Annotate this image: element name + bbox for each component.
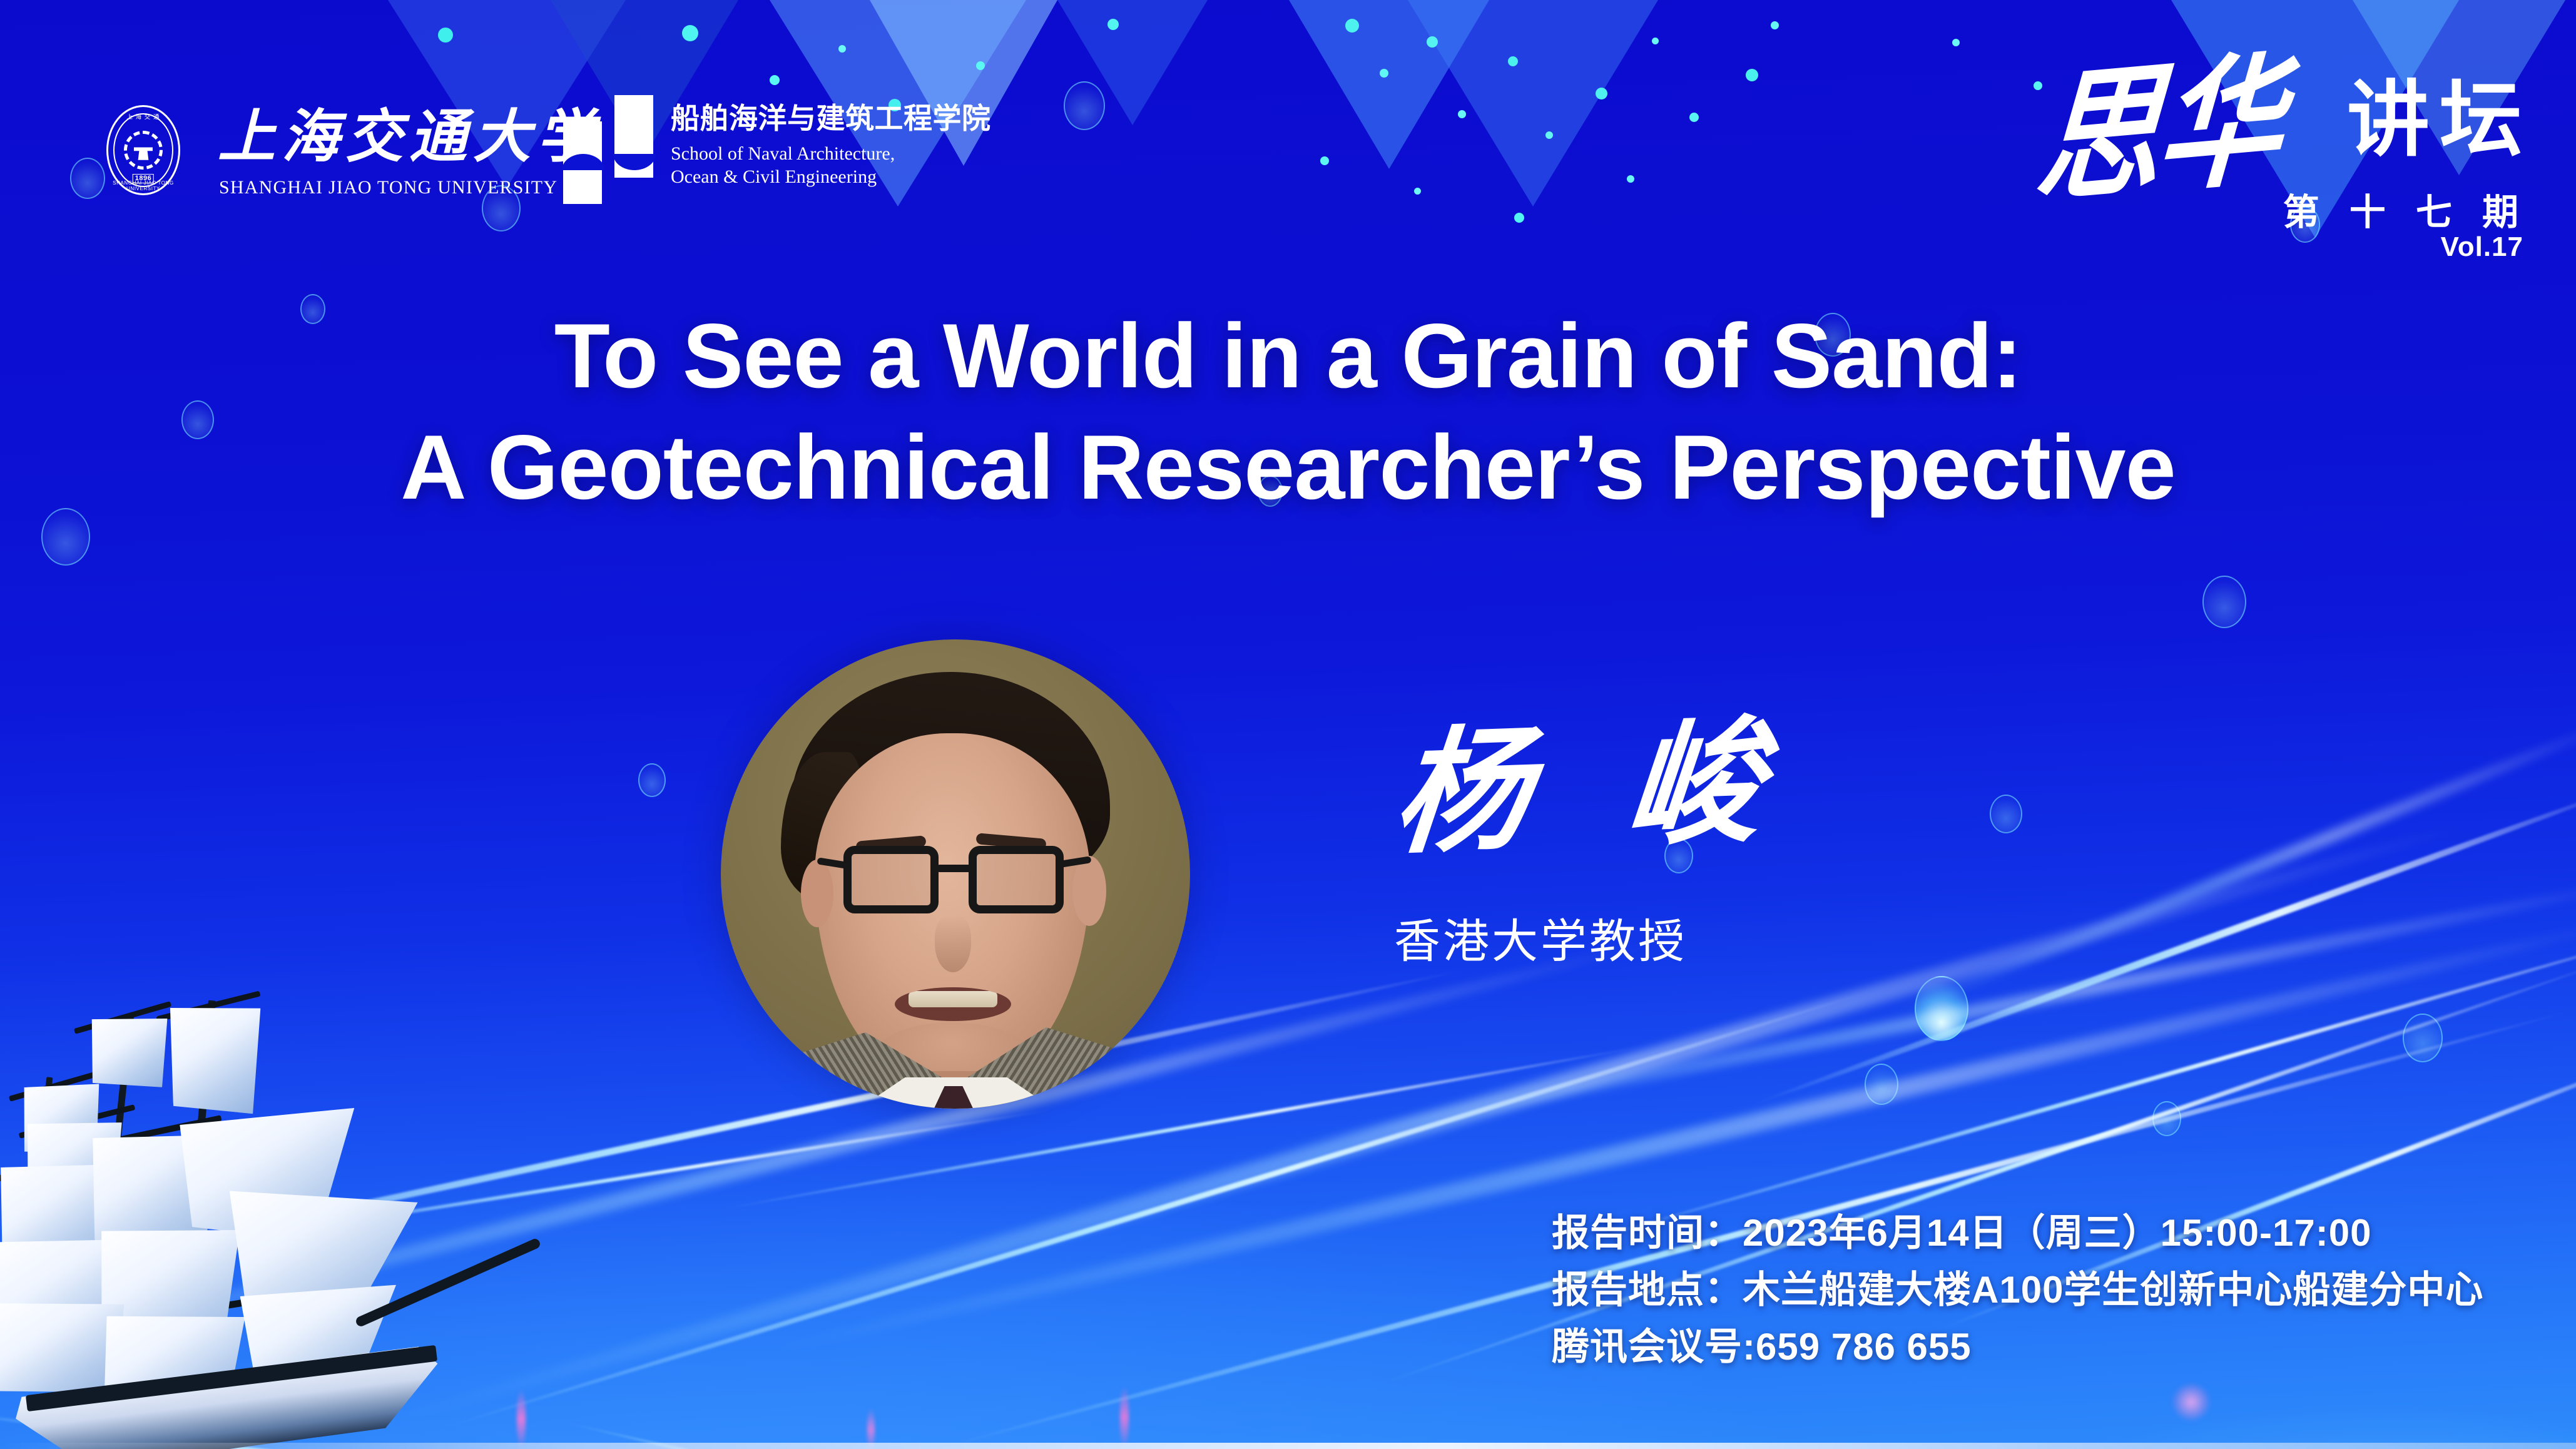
title-line-1: To See a World in a Grain of Sand: (0, 300, 2576, 412)
seal-arc-bottom: SHANGHAI JIAO TONG UNIVERSITY (108, 180, 178, 191)
event-details: 报告时间：2023年6月14日（周三）15:00-17:00 报告地点：木兰船建… (1552, 1204, 2483, 1376)
speaker-name: 杨 峻 (1388, 713, 1793, 861)
forum-volume: Vol.17 (2441, 231, 2523, 263)
eyeglasses-icon (843, 846, 1064, 918)
page-title: To See a World in a Grain of Sand: A Geo… (0, 300, 2576, 523)
forum-name: 讲坛 (2347, 79, 2532, 161)
school-logo-icon (563, 95, 679, 208)
sjtu-seal-icon: 上 海 交 通 1896 SHANGHAI JIAO TONG UNIVERSI… (106, 105, 180, 195)
school-name-en-line2: Ocean & Civil Engineering (671, 166, 877, 187)
school-name-en: School of Naval Architecture,Ocean & Civ… (671, 143, 895, 188)
speaker-affiliation: 香港大学教授 (1394, 904, 1687, 971)
title-line-2: A Geotechnical Researcher’s Perspective (0, 412, 2576, 523)
speaker-portrait (721, 639, 1190, 1109)
event-time: 报告时间：2023年6月14日（周三）15:00-17:00 (1552, 1204, 2483, 1261)
header: 上 海 交 通 1896 SHANGHAI JIAO TONG UNIVERSI… (0, 0, 2576, 238)
seal-arc-top: 上 海 交 通 (108, 112, 178, 121)
forum-calligraphy: 思华 (2032, 49, 2284, 211)
sailing-ship-icon (0, 995, 573, 1449)
forum-brand: 思华 讲坛 第 十 七 期 Vol.17 (2037, 60, 2537, 248)
university-name-cn: 上海交通大学 (218, 108, 601, 165)
university-name-en: SHANGHAI JIAO TONG UNIVERSITY (219, 177, 557, 198)
event-place: 报告地点：木兰船建大楼A100学生创新中心船建分中心 (1552, 1261, 2483, 1318)
bottom-divider (0, 1443, 2576, 1449)
event-poster: 上 海 交 通 1896 SHANGHAI JIAO TONG UNIVERSI… (0, 0, 2576, 1449)
forum-issue: 第 十 七 期 (2283, 183, 2528, 235)
school-name-en-line1: School of Naval Architecture, (671, 143, 895, 164)
event-meeting-id: 腾讯会议号:659 786 655 (1552, 1318, 2483, 1375)
school-name-cn: 船舶海洋与建筑工程学院 (671, 104, 991, 133)
